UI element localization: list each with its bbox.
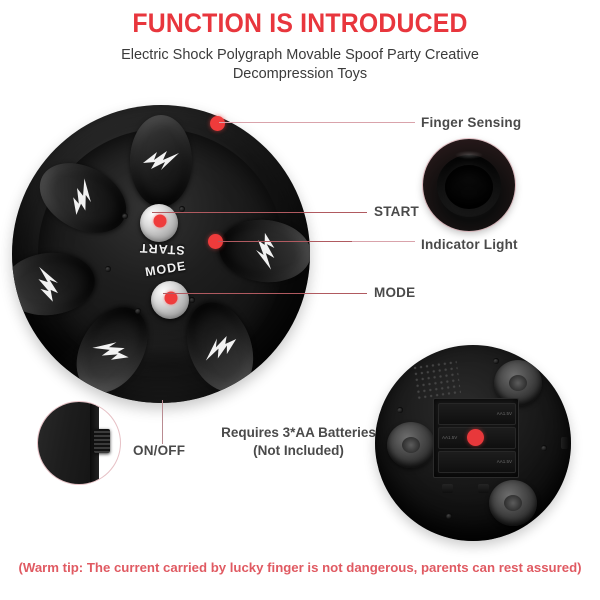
product-top-view: START MODE	[10, 103, 314, 409]
start-button-dot	[153, 215, 166, 228]
battery-anchor-dot	[467, 429, 484, 446]
page-subtitle: Electric Shock Polygraph Movable Spoof P…	[70, 46, 530, 84]
warm-tip-text: (Warm tip: The current carried by lucky …	[0, 560, 600, 575]
screw-hole	[446, 513, 452, 519]
leader-line-start	[152, 212, 367, 213]
battery-cell-label: AA1.5V	[442, 435, 457, 440]
speaker-grille-icon	[413, 360, 461, 400]
power-switch-icon[interactable]	[94, 429, 110, 453]
screw-hole	[189, 297, 195, 303]
battery-cell-label: AA1.5V	[497, 411, 512, 416]
page-title: FUNCTION IS INTRODUCED	[24, 8, 576, 39]
callout-finger-sensing: Finger Sensing	[421, 115, 521, 130]
product-bottom-view: AA1.5V AA1.5V AA1.5V	[375, 345, 571, 541]
leader-line-on-off	[162, 400, 163, 444]
lightning-bolt-icon	[88, 329, 136, 372]
lightning-bolt-icon	[197, 328, 243, 366]
callout-indicator-light: Indicator Light	[421, 237, 518, 252]
callout-mode: MODE	[374, 285, 415, 300]
battery-caption: Requires 3*AA Batteries (Not Included)	[216, 424, 381, 460]
suction-cup	[489, 480, 537, 526]
on-off-closeup-inset	[38, 402, 120, 484]
leader-line-indicator-light-ext	[352, 241, 415, 242]
mount-nub	[478, 484, 489, 493]
battery-cell: AA1.5V	[438, 403, 516, 425]
finger-sensing-anchor-dot	[210, 116, 225, 131]
screw-hole	[493, 358, 499, 364]
lightning-bolt-icon	[34, 263, 64, 305]
lightning-bolt-icon	[141, 148, 181, 174]
infographic-page: FUNCTION IS INTRODUCED Electric Shock Po…	[0, 0, 600, 600]
device-body: START MODE	[12, 105, 310, 403]
start-button-label: START	[139, 241, 185, 257]
side-bump	[561, 437, 568, 449]
mode-button[interactable]	[151, 281, 189, 319]
finger-slot-top[interactable]	[130, 115, 192, 207]
finger-sensing-closeup-inset	[423, 139, 515, 231]
finger-cup-highlight	[449, 149, 489, 161]
suction-cup	[387, 422, 435, 468]
battery-caption-line2: (Not Included)	[216, 442, 381, 460]
leader-line-indicator-light	[218, 241, 352, 242]
screw-hole	[135, 308, 141, 314]
screw-hole	[122, 213, 128, 219]
battery-cell-label: AA1.5V	[497, 459, 512, 464]
start-button[interactable]	[140, 204, 178, 242]
screw-hole	[541, 445, 547, 451]
leader-line-finger-sensing	[219, 122, 415, 123]
device-side-body	[38, 402, 96, 484]
leader-line-mode	[163, 293, 367, 294]
lightning-bolt-icon	[62, 174, 104, 222]
lightning-bolt-icon	[250, 230, 280, 272]
screw-hole	[397, 407, 403, 413]
device-rim-shadow	[30, 343, 298, 401]
finger-cup-inner	[445, 165, 493, 209]
callout-start: START	[374, 204, 419, 219]
screw-hole	[105, 266, 111, 272]
battery-cell: AA1.5V	[438, 451, 516, 473]
battery-caption-line1: Requires 3*AA Batteries	[216, 424, 381, 442]
mount-nub	[442, 484, 453, 493]
callout-on-off: ON/OFF	[133, 443, 185, 458]
